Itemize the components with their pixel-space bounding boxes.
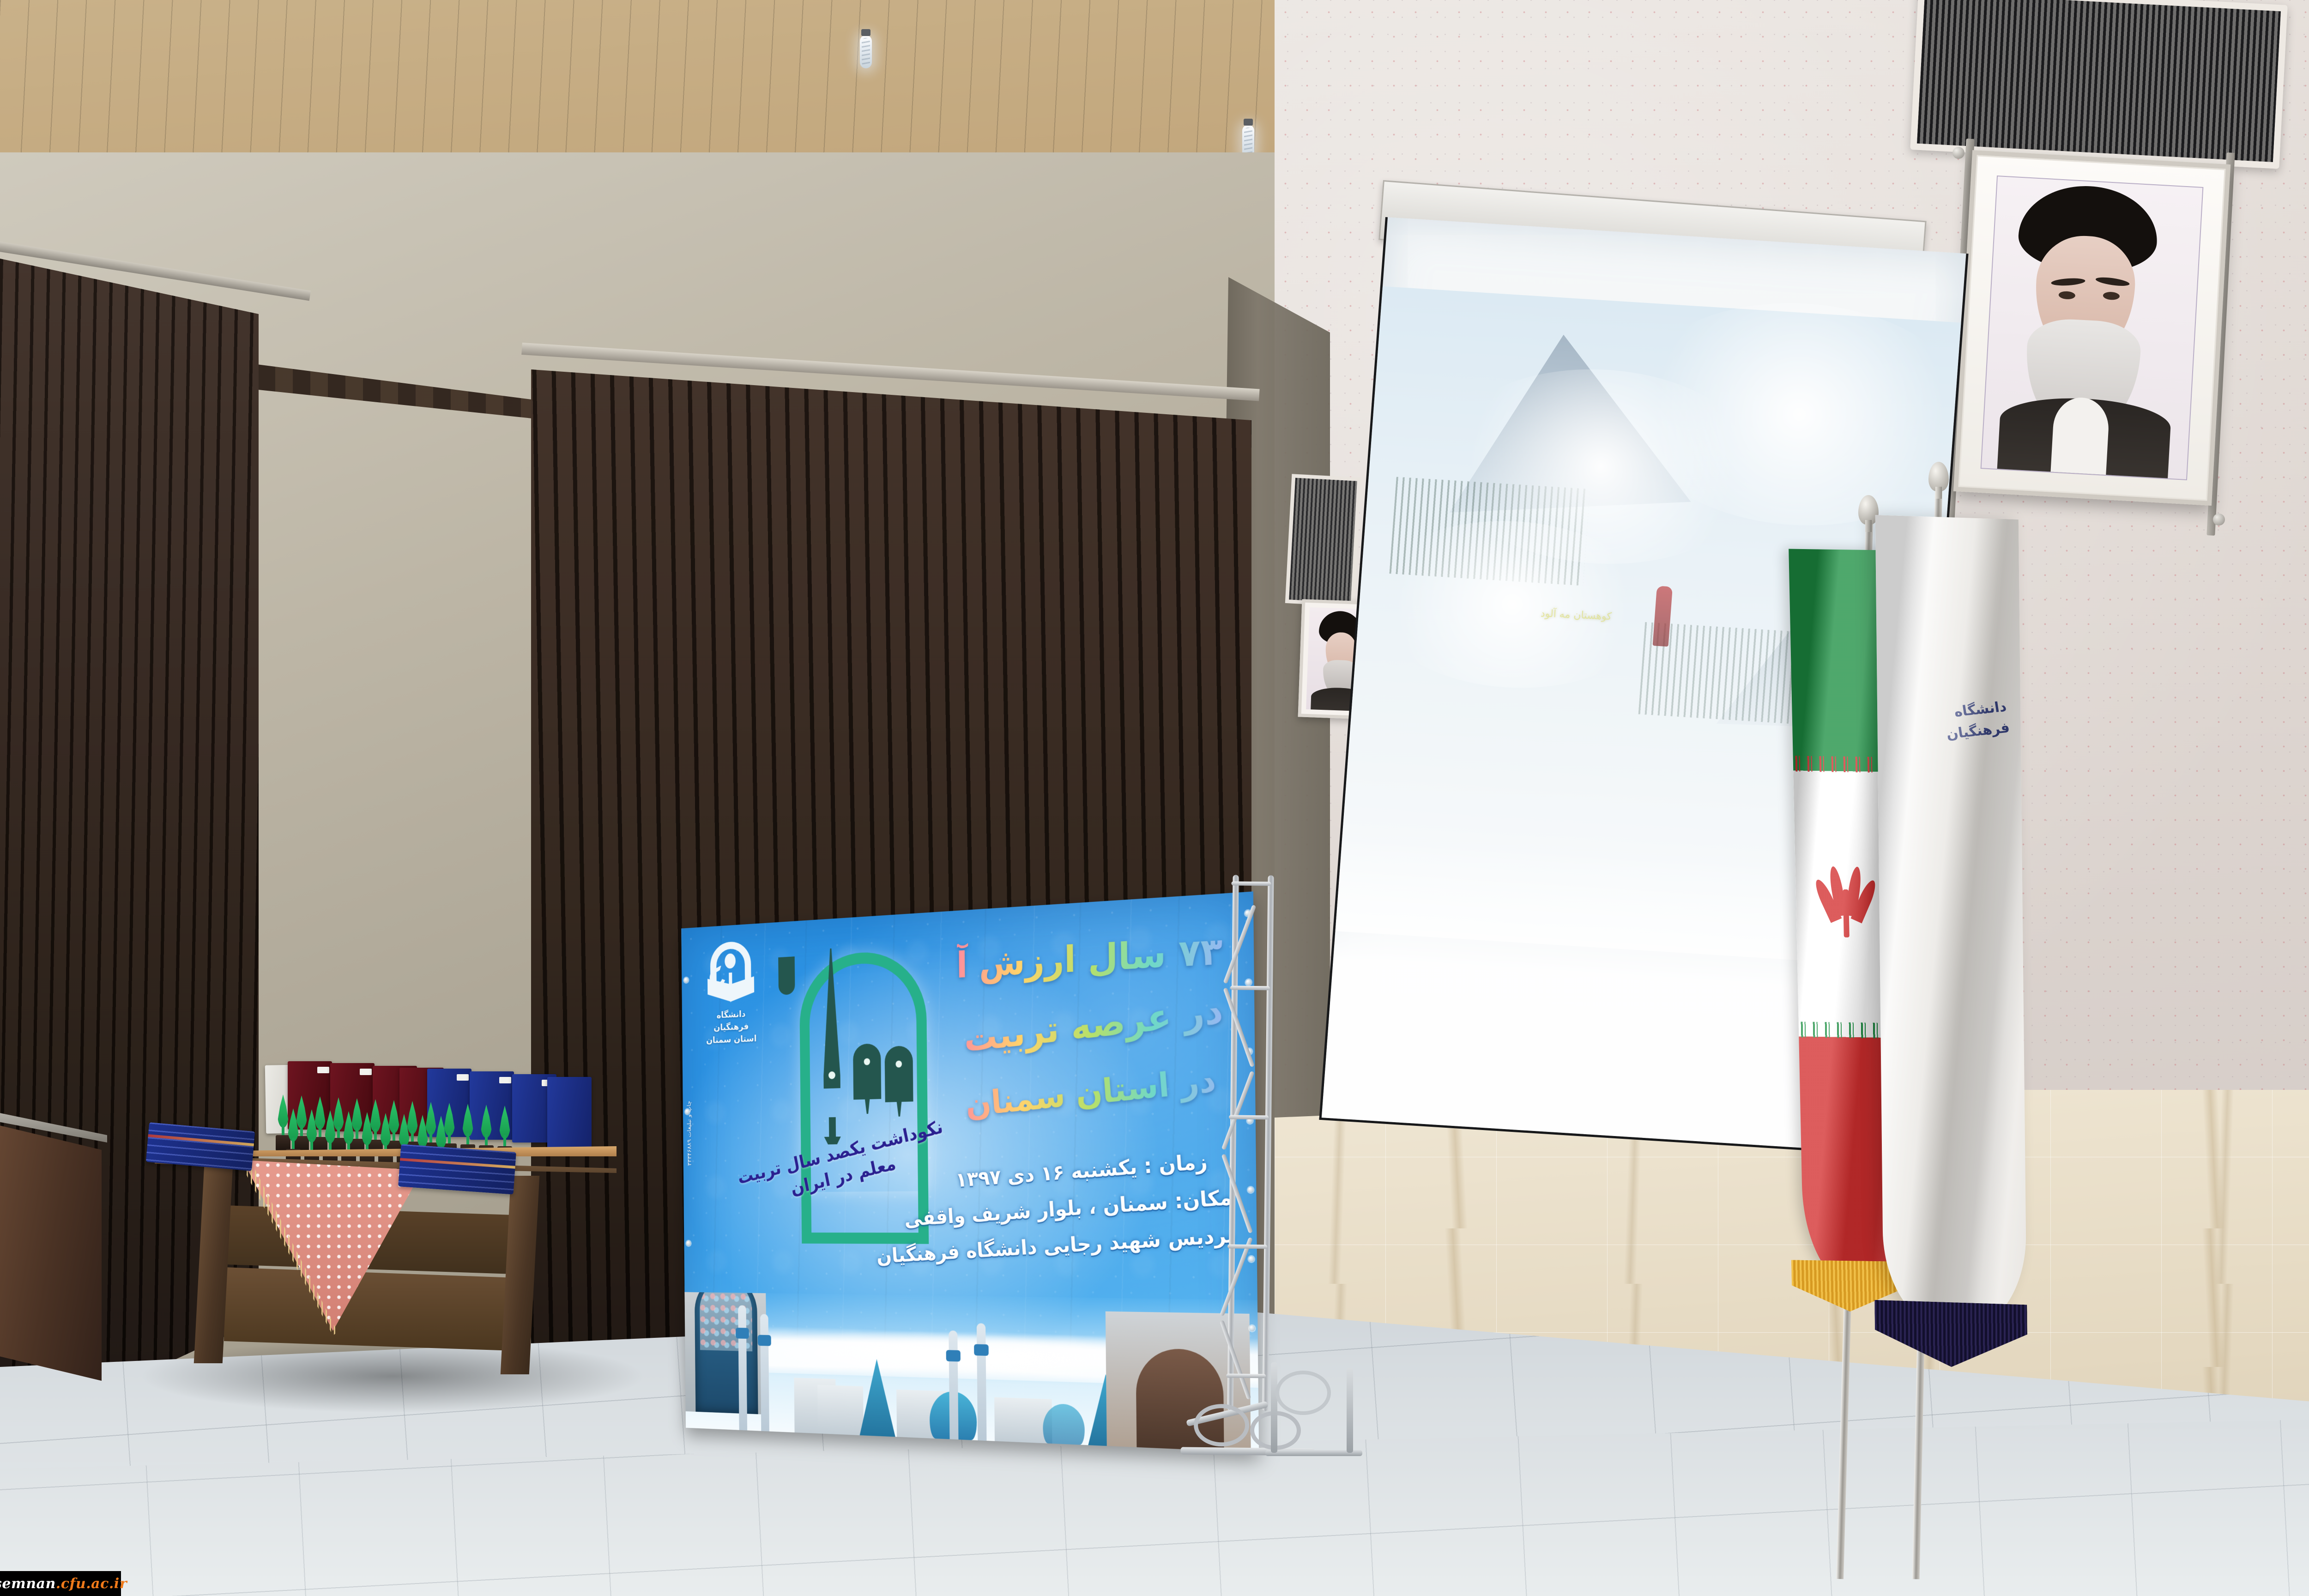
trophy xyxy=(360,1112,375,1167)
banner-surface: دانشگاه فرهنگیان استان سمنان نک xyxy=(681,891,1259,1452)
rack-leg xyxy=(1347,1368,1353,1453)
rail-ball-top xyxy=(1952,147,1964,159)
truss-rung xyxy=(1227,1244,1267,1249)
skyline-minaret xyxy=(760,1314,769,1431)
flag-institution: دانشگاه فرهنگیان xyxy=(1875,515,2027,1332)
truss-column-back xyxy=(1262,875,1274,1411)
banner-eyelet xyxy=(686,1241,691,1246)
podium xyxy=(0,1122,102,1381)
rail-ball-bottom xyxy=(2213,514,2225,526)
university-logo: دانشگاه فرهنگیان استان سمنان xyxy=(701,940,761,1051)
portrait-mat xyxy=(1981,175,2204,480)
cloth-stripe xyxy=(400,1158,515,1168)
skyline-minaret xyxy=(949,1330,958,1439)
university-logo-mark xyxy=(707,940,754,1005)
portrait-imam-khomeini xyxy=(1953,150,2230,506)
folder-label xyxy=(499,1077,511,1083)
watermark-site-domain: .cfu.ac.ir xyxy=(56,1576,127,1592)
metal-rack xyxy=(1265,1362,1362,1469)
truss-brace xyxy=(1221,1154,1253,1233)
banner-headline: ۷۳ سال ارزش آفرینی در عرصه تربیت معلم در… xyxy=(957,917,1224,1129)
hvac-louvers xyxy=(1917,0,2281,162)
truss-base-ring xyxy=(1194,1404,1250,1447)
ceiling-bulb xyxy=(860,35,872,68)
logo-text-line1: دانشگاه فرهنگیان xyxy=(702,1007,761,1034)
event-banner: دانشگاه فرهنگیان استان سمنان نک xyxy=(681,891,1259,1452)
truss-rung xyxy=(1231,881,1271,886)
cloth-stripe xyxy=(148,1134,254,1146)
folded-cloth-stack xyxy=(398,1144,516,1194)
certificate-folder xyxy=(547,1077,592,1151)
flag-fold-shading xyxy=(1875,515,2027,1332)
watermark-site-name: semnan xyxy=(0,1576,56,1592)
banner-city-skyline xyxy=(684,1292,1259,1452)
folder-label xyxy=(457,1074,469,1081)
trophy xyxy=(378,1113,393,1168)
truss-rung xyxy=(1226,1373,1266,1378)
truss-brace xyxy=(1220,1320,1251,1400)
trophy xyxy=(341,1111,356,1167)
collar xyxy=(2050,396,2110,478)
trophy xyxy=(323,1110,338,1166)
folder-label xyxy=(317,1067,329,1073)
rack-leg xyxy=(1271,1362,1277,1453)
trophy xyxy=(304,1109,319,1165)
truss-brace xyxy=(1223,987,1255,1067)
qalam-pen-stem xyxy=(829,1117,836,1139)
rack-ring xyxy=(1275,1371,1331,1415)
folder-label xyxy=(360,1069,372,1075)
truss-rung xyxy=(1230,985,1270,990)
skyline-building xyxy=(817,1385,864,1436)
university-logo-text: دانشگاه فرهنگیان استان سمنان xyxy=(702,1007,761,1046)
truss-rung xyxy=(1229,1115,1269,1119)
table-leg-right xyxy=(501,1176,540,1374)
hall-photo-scene: کوهستان مه آلود دانشگاه فرهنگیان استان س… xyxy=(0,0,2309,1596)
logo-text-line2: استان سمنان xyxy=(702,1032,761,1047)
skyline-minaret xyxy=(977,1323,987,1441)
site-watermark: semnan.cfu.ac.ir xyxy=(0,1571,121,1596)
qalam-pen-tall-body xyxy=(778,956,795,995)
air-vent-small xyxy=(1285,474,1361,606)
skyline-minaret xyxy=(738,1305,747,1430)
gift-table xyxy=(155,1039,617,1390)
banner-details: زمان : یکشنبه ۱۶ دی ۱۳۹۷ مکان: سمنان ، ب… xyxy=(935,1141,1235,1270)
